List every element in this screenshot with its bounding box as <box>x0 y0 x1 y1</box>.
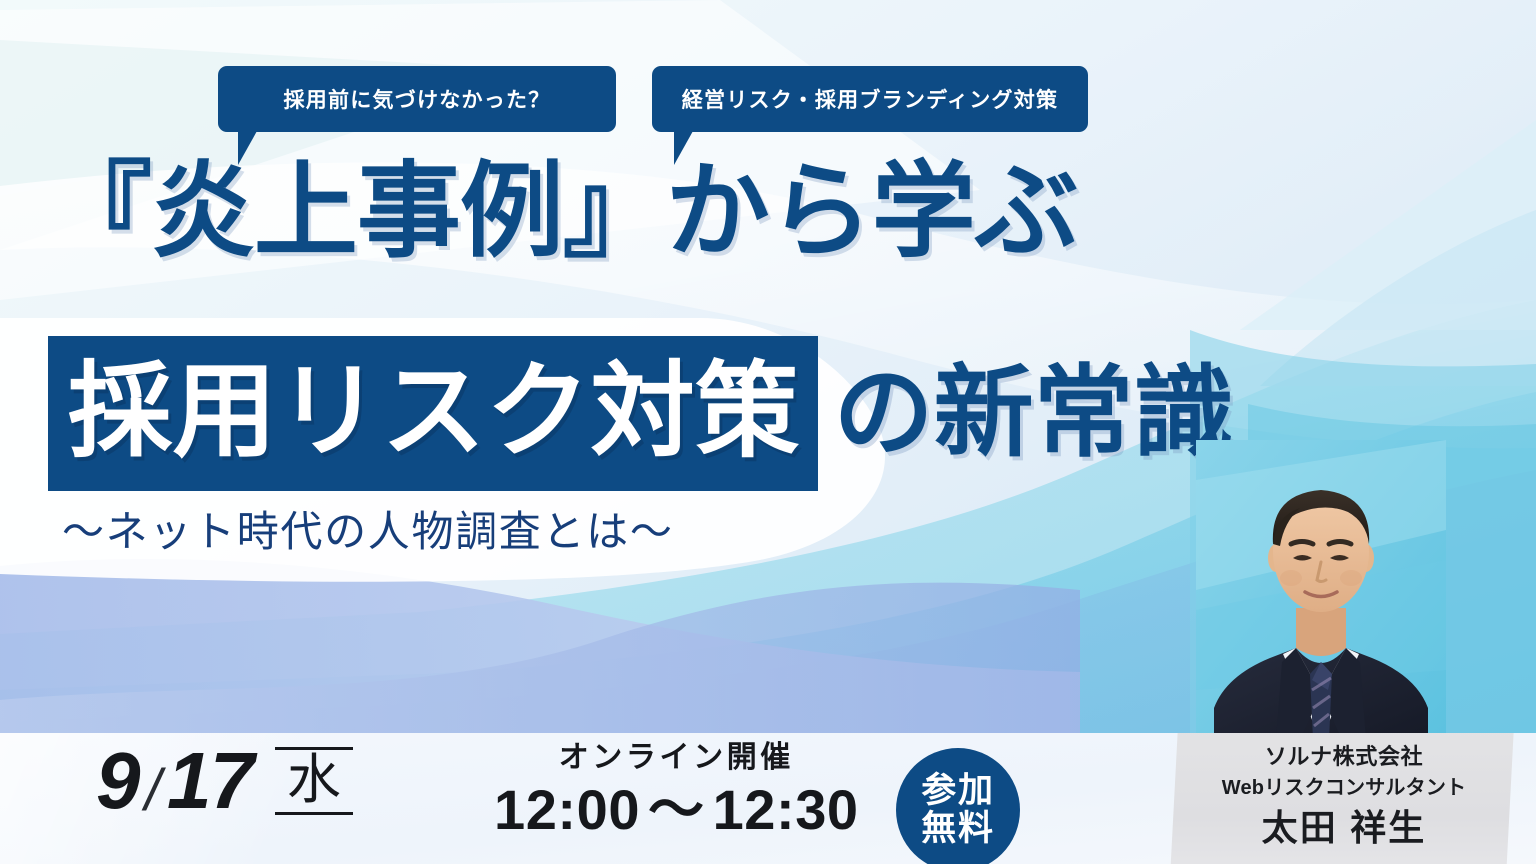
headline-subtitle: 〜ネット時代の人物調査とは〜 <box>62 498 674 559</box>
free-badge-line-2: 無料 <box>921 810 995 848</box>
event-time-block: オンライン開催 12:00〜12:30 <box>494 739 859 843</box>
event-format-label: オンライン開催 <box>494 739 859 777</box>
bubble-row: 採用前に気づけなかった？ 経営リスク・採用ブランディング対策 <box>0 0 1536 180</box>
date-separator: / <box>143 762 163 820</box>
event-time-end: 12:30 <box>713 778 859 841</box>
event-time-start: 12:00 <box>494 778 640 841</box>
event-date: 9 / 17 水 <box>96 741 353 821</box>
headline-line-2: 採用リスク対策 の新常識 <box>48 336 1234 491</box>
badge-bubble-right: 経営リスク・採用ブランディング対策 <box>652 66 1088 132</box>
speaker-company: ソルナ株式会社 <box>1152 741 1536 773</box>
badge-bubble-left: 採用前に気づけなかった？ <box>218 66 616 132</box>
event-time-range: 12:00〜12:30 <box>494 777 859 843</box>
headline-line-2-tail: の新常識 <box>834 361 1234 466</box>
event-month: 9 <box>96 741 139 821</box>
speaker-name: 太田 祥生 <box>1152 805 1536 852</box>
speaker-portrait <box>1196 440 1446 740</box>
free-badge-line-1: 参加 <box>921 772 995 810</box>
badge-bubble-left-label: 採用前に気づけなかった？ <box>283 84 550 114</box>
speaker-info-plate: ソルナ株式会社 Webリスクコンサルタント 太田 祥生 <box>1152 733 1536 864</box>
headline-highlight-box: 採用リスク対策 <box>48 336 818 491</box>
headline-line-1: 『炎上事例』から学ぶ <box>48 160 1078 264</box>
event-day: 17 <box>167 741 253 821</box>
speaker-info: ソルナ株式会社 Webリスクコンサルタント 太田 祥生 <box>1152 741 1536 852</box>
webinar-banner: 採用前に気づけなかった？ 経営リスク・採用ブランディング対策 『炎上事例』から学… <box>0 0 1536 864</box>
event-weekday-box: 水 <box>275 747 353 814</box>
free-admission-badge: 参加 無料 <box>896 748 1020 864</box>
badge-bubble-right-label: 経営リスク・採用ブランディング対策 <box>682 84 1059 114</box>
event-time-tilde: 〜 <box>640 778 713 841</box>
event-weekday: 水 <box>287 750 341 810</box>
speaker-role: Webリスクコンサルタント <box>1152 773 1536 803</box>
